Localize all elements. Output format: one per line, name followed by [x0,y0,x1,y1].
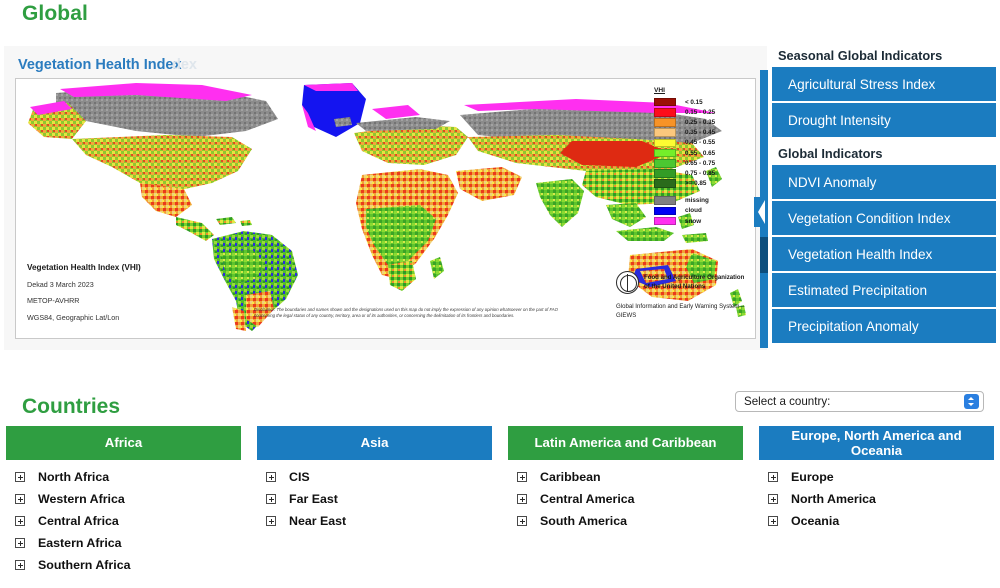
region-header-latin-america-and-caribbean[interactable]: Latin America and Caribbean [508,426,743,460]
vhi-legend-special-label: snow [685,218,701,225]
indicator-item-vegetation-condition-index[interactable]: Vegetation Condition Index [772,201,996,237]
vhi-legend-class-label: 0.45 - 0.55 [685,139,715,146]
chevron-updown-icon[interactable] [964,394,979,409]
seasonal-indicators-list: Agricultural Stress IndexDrought Intensi… [772,67,996,139]
indicator-item-label: Drought Intensity [788,113,891,128]
subregion-label: South America [540,514,627,528]
indicator-item-precipitation-anomaly[interactable]: Precipitation Anomaly [772,309,996,345]
subregion-list: North AfricaWestern AfricaCentral Africa… [6,466,241,576]
subregion-label: Europe [791,470,834,484]
subregion-label: Oceania [791,514,839,528]
vhi-legend-class-swatch [654,118,676,127]
vhi-legend-class-swatch [654,179,676,188]
seasonal-indicators-title: Seasonal Global Indicators [778,48,996,63]
subregion-row[interactable]: Oceania [759,510,994,532]
vhi-legend-class-row: 0.35 - 0.45 [654,128,746,138]
expand-plus-icon[interactable] [517,472,527,482]
region-column: Latin America and CaribbeanCaribbeanCent… [508,426,743,576]
subregion-list: EuropeNorth AmericaOceania [759,466,994,532]
map-caption: Vegetation Health Index (VHI) Dekad 3 Ma… [27,264,141,330]
subregion-row[interactable]: Caribbean [508,466,743,488]
vhi-legend-special-row: snow [654,216,746,226]
vhi-legend-class-row: 0.65 - 0.75 [654,158,746,168]
vhi-legend-class-label: 0.75 - 0.85 [685,170,715,177]
vhi-legend-class-label: 0.15 - 0.25 [685,109,715,116]
expand-plus-icon[interactable] [768,516,778,526]
subregion-row[interactable]: Near East [257,510,492,532]
subregion-label: Caribbean [540,470,601,484]
expand-plus-icon[interactable] [15,516,25,526]
fao-logo-icon [616,271,639,294]
indicators-sidebar: Seasonal Global Indicators Agricultural … [772,48,996,345]
vhi-legend-class-swatch [654,128,676,137]
subregion-label: Central America [540,492,635,506]
subregion-label: Near East [289,514,346,528]
vhi-legend-class-label: 0.35 - 0.45 [685,129,715,136]
expand-plus-icon[interactable] [15,538,25,548]
indicator-item-drought-intensity[interactable]: Drought Intensity [772,103,996,139]
expand-plus-icon[interactable] [517,516,527,526]
subregion-label: Far East [289,492,338,506]
vhi-legend-class-swatch [654,139,676,148]
vhi-legend-special-swatch [654,217,676,226]
expand-plus-icon[interactable] [517,494,527,504]
region-column: AfricaNorth AfricaWestern AfricaCentral … [6,426,241,576]
vhi-legend-class-label: 0.25 - 0.35 [685,119,715,126]
indicator-item-vegetation-health-index[interactable]: Vegetation Health Index [772,237,996,273]
vhi-legend-special-row: missing [654,196,746,206]
chevron-left-icon [754,197,767,227]
region-header-label: Europe, North America and Oceania [767,428,986,458]
indicator-item-agricultural-stress-index[interactable]: Agricultural Stress Index [772,67,996,103]
vhi-legend-classes: < 0.150.15 - 0.250.25 - 0.350.35 - 0.450… [654,97,746,189]
region-header-label: Latin America and Caribbean [535,435,717,450]
giews-name: Global Information and Early Warning Sys… [616,303,746,320]
region-header-label: Asia [361,435,389,450]
vhi-legend-class-label: >= 0.85 [685,180,706,187]
vhi-legend-special-swatch [654,196,676,205]
indicator-item-label: NDVI Anomaly [788,175,876,190]
vhi-legend-class-swatch [654,169,676,178]
region-column: Europe, North America and OceaniaEuropeN… [759,426,994,576]
subregion-list: CISFar EastNear East [257,466,492,532]
subregion-label: North Africa [38,470,109,484]
vhi-legend-class-row: 0.15 - 0.25 [654,107,746,117]
map-panel-title-ghost: dex [172,57,197,73]
subregion-row[interactable]: Far East [257,488,492,510]
vhi-legend-class-row: 0.45 - 0.55 [654,138,746,148]
map-caption-title: Vegetation Health Index (VHI) [27,264,141,272]
region-header-label: Africa [105,435,142,450]
indicator-rail-active-marker [760,237,768,273]
global-indicators-title: Global Indicators [778,146,996,161]
vhi-legend-class-label: 0.65 - 0.75 [685,160,715,167]
region-header-africa[interactable]: Africa [6,426,241,460]
region-header-asia[interactable]: Asia [257,426,492,460]
expand-plus-icon[interactable] [266,494,276,504]
indicator-item-label: Estimated Precipitation [788,283,927,298]
page-title: Global [22,2,88,26]
subregion-row[interactable]: Central Africa [6,510,241,532]
subregion-row[interactable]: CIS [257,466,492,488]
expand-plus-icon[interactable] [768,472,778,482]
vhi-legend-special-row: cloud [654,206,746,216]
subregion-row[interactable]: North Africa [6,466,241,488]
vhi-legend-class-swatch [654,159,676,168]
region-columns: AfricaNorth AfricaWestern AfricaCentral … [6,426,994,576]
vhi-legend: VHI < 0.150.15 - 0.250.25 - 0.350.35 - 0… [654,87,746,226]
vhi-legend-title: VHI [654,87,746,94]
vhi-legend-special-classes: missingcloudsnow [654,196,746,227]
vhi-legend-class-row: >= 0.85 [654,179,746,189]
indicator-item-estimated-precipitation[interactable]: Estimated Precipitation [772,273,996,309]
vhi-legend-class-row: 0.25 - 0.35 [654,117,746,127]
subregion-label: CIS [289,470,310,484]
subregion-row[interactable]: North America [759,488,994,510]
subregion-label: Eastern Africa [38,536,122,550]
subregion-row[interactable]: Eastern Africa [6,532,241,554]
expand-plus-icon[interactable] [768,494,778,504]
country-select[interactable]: Select a country: [735,391,984,412]
indicator-item-label: Vegetation Condition Index [788,211,951,226]
vhi-legend-special-swatch [654,207,676,216]
expand-plus-icon[interactable] [15,494,25,504]
vhi-legend-class-label: 0.55 - 0.65 [685,150,715,157]
global-map-panel: Vegetation Health Index dex [4,46,767,350]
indicator-item-label: Precipitation Anomaly [788,319,919,334]
subregion-row[interactable]: Southern Africa [6,554,241,576]
map-caption-date: Dekad 3 March 2023 [27,281,141,288]
fao-organization-name: Food and Agriculture Organization of the… [644,274,746,290]
subregion-label: Central Africa [38,514,119,528]
panel-collapse-toggle[interactable] [754,197,767,227]
vegetation-health-index-map[interactable]: Vegetation Health Index (VHI) Dekad 3 Ma… [15,78,756,339]
global-indicators-list: NDVI AnomalyVegetation Condition IndexVe… [772,165,996,345]
vhi-legend-class-swatch [654,98,676,107]
expand-plus-icon[interactable] [15,560,25,570]
vhi-legend-class-row: 0.75 - 0.85 [654,168,746,178]
region-column: AsiaCISFar EastNear East [257,426,492,576]
vhi-legend-class-row: 0.55 - 0.65 [654,148,746,158]
vhi-legend-special-label: missing [685,197,709,204]
vhi-legend-class-swatch [654,149,676,158]
vhi-legend-special-label: cloud [685,207,702,214]
vhi-legend-class-swatch [654,108,676,117]
vhi-legend-class-row: < 0.15 [654,97,746,107]
subregion-label: Western Africa [38,492,125,506]
indicator-item-label: Vegetation Health Index [788,247,932,262]
subregion-list: CaribbeanCentral AmericaSouth America [508,466,743,532]
countries-title: Countries [22,395,120,419]
subregion-row[interactable]: Western Africa [6,488,241,510]
subregion-row[interactable]: Europe [759,466,994,488]
vhi-legend-class-label: < 0.15 [685,99,703,106]
subregion-row[interactable]: South America [508,510,743,532]
indicator-item-ndvi-anomaly[interactable]: NDVI Anomaly [772,165,996,201]
indicator-item-label: Agricultural Stress Index [788,77,935,92]
map-caption-projection: WGS84, Geographic Lat/Lon [27,314,141,321]
region-header-europe-north-america-and-oceania[interactable]: Europe, North America and Oceania [759,426,994,460]
fao-attribution: Food and Agriculture Organization of the… [616,271,746,320]
expand-plus-icon[interactable] [15,472,25,482]
subregion-label: North America [791,492,876,506]
map-disclaimer: Disclaimer: The boundaries and names sho… [254,307,574,319]
expand-plus-icon[interactable] [266,516,276,526]
expand-plus-icon[interactable] [266,472,276,482]
subregion-row[interactable]: Central America [508,488,743,510]
subregion-label: Southern Africa [38,558,130,572]
map-caption-sensor: METOP-AVHRR [27,297,141,304]
country-select-label: Select a country: [744,395,964,408]
map-panel-title: Vegetation Health Index [18,57,182,73]
